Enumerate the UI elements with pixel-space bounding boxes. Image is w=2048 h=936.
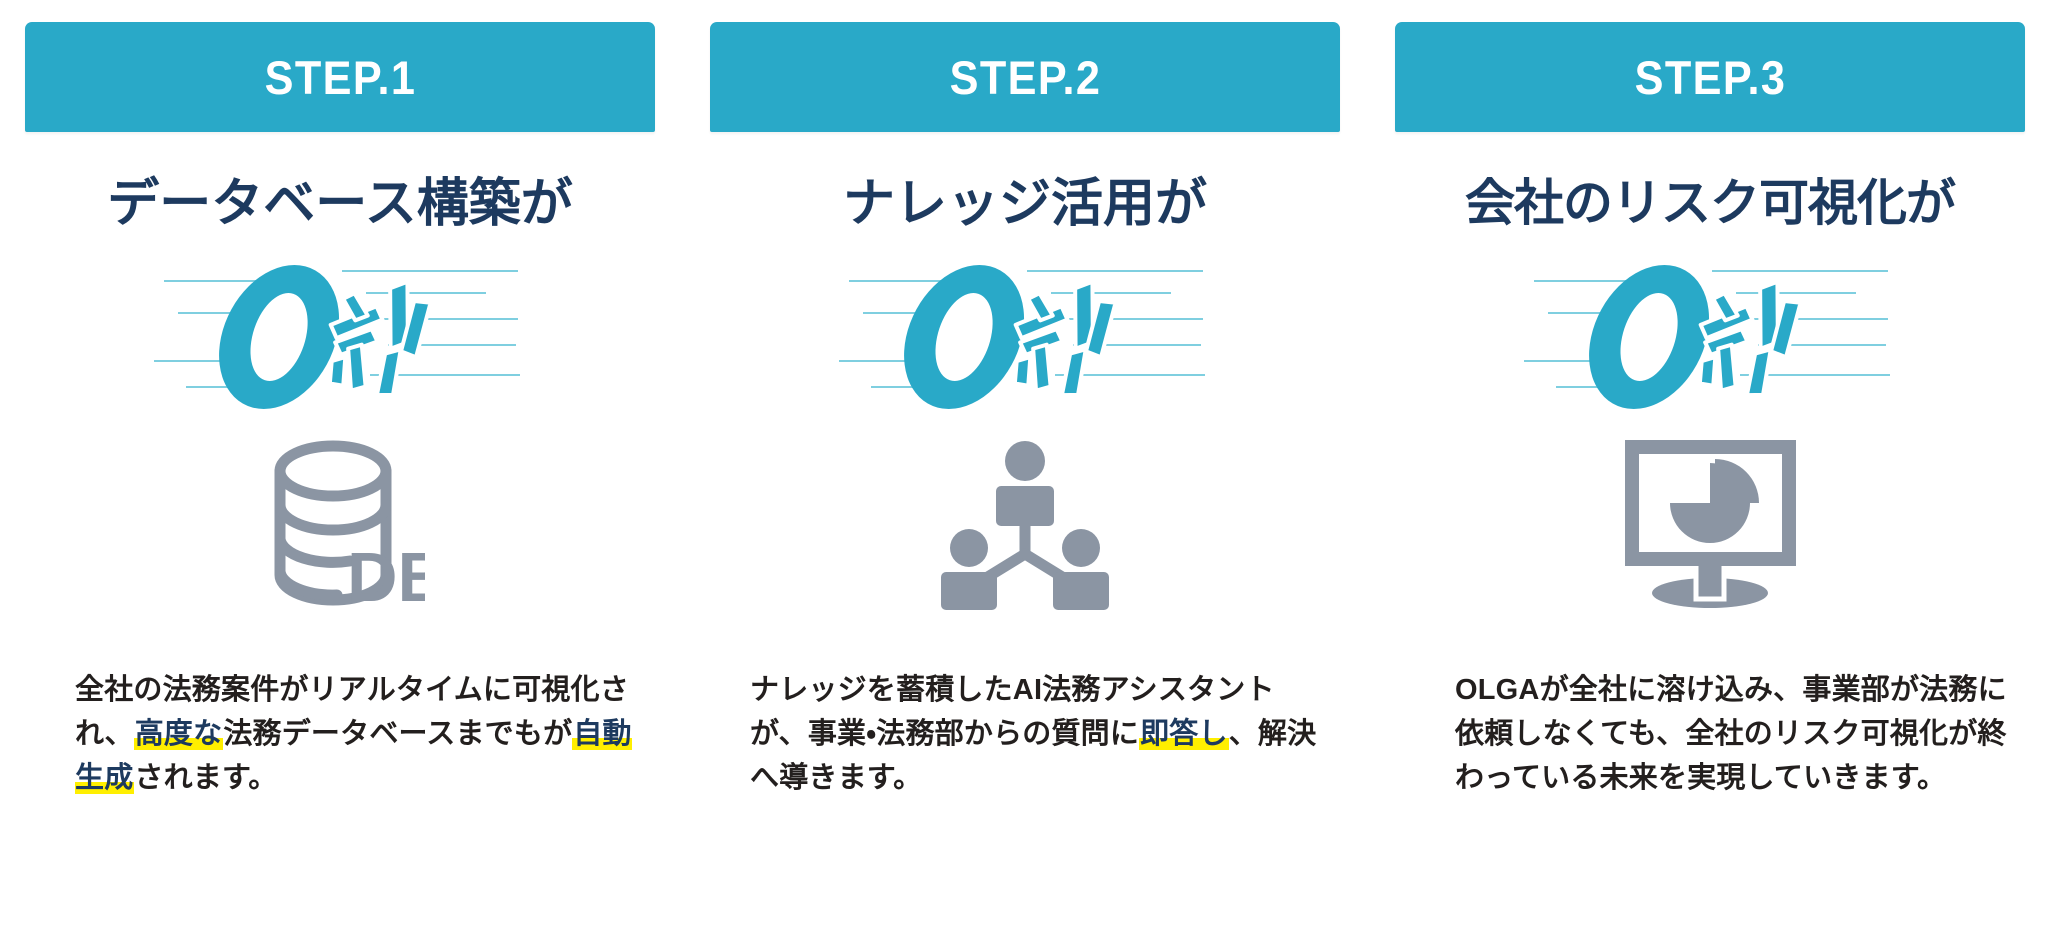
step-label-1: STEP.1: [264, 54, 416, 101]
step-header-bar-1: STEP.1: [25, 22, 655, 132]
body-segment: ていきます。: [1774, 762, 1946, 794]
database-icon-caption: DB: [347, 538, 425, 615]
step-label-2: STEP.2: [949, 54, 1101, 101]
zero-second-graphic-2: [710, 262, 1340, 412]
body-segment: されます。: [134, 762, 277, 794]
zero-seconds-lettering: [170, 262, 510, 412]
step-headline-3: 会社のリスク可視化が: [1395, 175, 2025, 231]
step-label-3: STEP.3: [1634, 54, 1786, 101]
body-segment: 法務データベース: [223, 718, 455, 750]
step-headline-2: ナレッジ活用が: [710, 175, 1340, 233]
step-headline-1: データベース構築が: [25, 175, 655, 233]
step-column-1: STEP.1 データベース構築が: [25, 0, 655, 936]
body-segment: OLGAが全社に溶け込み、事業部が法: [1455, 674, 1948, 706]
step-header-bar-2: STEP.2: [710, 22, 1340, 132]
step-column-2: STEP.2 ナレッジ活用が: [710, 0, 1340, 936]
body-segment: ナレッジを蓄積したAI法務アシスタント: [750, 674, 1275, 706]
zero-second-graphic-1: [25, 262, 655, 412]
database-db-icon: DB: [25, 430, 655, 620]
body-segment: 、: [1229, 718, 1258, 750]
body-segment: 全社の法務案件がリアルタイムに: [75, 674, 512, 706]
step-body-copy-3: OLGAが全社に溶け込み、事業部が法務に依頼しなくても、全社のリスク可視化が終わ…: [1455, 668, 2015, 800]
step-body-copy-2: ナレッジを蓄積したAI法務アシスタントが、事業・法務部からの質問に即答し、解決へ…: [750, 668, 1320, 800]
step-body-copy-1: 全社の法務案件がリアルタイムに可視化され、高度な法務データベースまでもが自動生成…: [75, 668, 635, 800]
step-column-3: STEP.3 会社のリスク可視化が: [1395, 0, 2025, 936]
body-segment: が、事業・法務部からの質問に: [750, 718, 1139, 750]
zero-seconds-lettering: [855, 262, 1195, 412]
body-segment: までもが: [455, 718, 572, 750]
body-highlight: 即答し: [1139, 718, 1229, 750]
body-highlight: 高度な: [134, 718, 224, 750]
three-step-infographic: STEP.1 データベース構築が: [0, 0, 2048, 936]
step-header-bar-3: STEP.3: [1395, 22, 2025, 132]
zero-second-graphic-3: [1395, 262, 2025, 412]
monitor-pie-chart-icon: [1395, 430, 2025, 620]
zero-seconds-lettering: [1540, 262, 1880, 412]
people-network-icon: [710, 430, 1340, 620]
